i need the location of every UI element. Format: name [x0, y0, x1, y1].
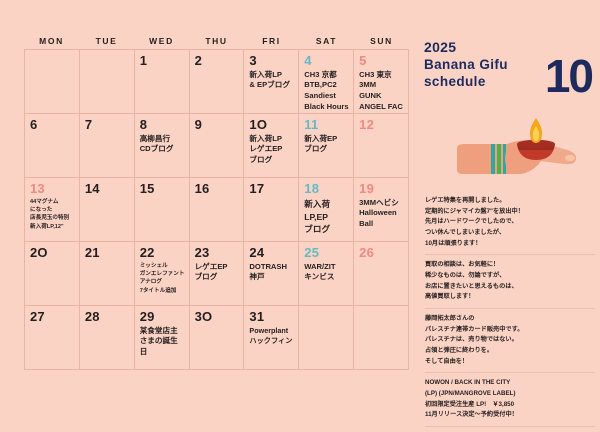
- schedule-header: 2025 Banana Gifuschedule 10: [424, 40, 592, 101]
- day-number: 16: [195, 182, 240, 196]
- day-cell-empty: [25, 50, 80, 114]
- note-line: お店に置きたいと思えるものは、: [425, 282, 595, 293]
- day-number: 22: [140, 246, 185, 260]
- day-number: 4: [304, 54, 349, 68]
- notes-panel: レゲエ特集を再開しました。定期的にジャマイカ盤7"を放出中！先月はハードワークで…: [425, 196, 595, 432]
- day-cell-3[interactable]: 3新入荷LP& EPブログ: [244, 50, 299, 114]
- day-number: 31: [249, 310, 294, 324]
- day-number: 5: [359, 54, 404, 68]
- day-number: 14: [85, 182, 130, 196]
- event-text: 新入荷LP,12": [30, 223, 75, 231]
- day-number: 15: [140, 182, 185, 196]
- event-text: Halloween: [359, 208, 404, 219]
- day-cell-empty: [354, 306, 409, 370]
- event-text: 神戸: [249, 272, 294, 283]
- day-cell-11[interactable]: 11新入荷EPブログ: [299, 114, 354, 178]
- note-line: 定期的にジャマイカ盤7"を放出中！: [425, 207, 595, 218]
- day-cell-1O[interactable]: 1O新入荷LPレゲエEPブログ: [244, 114, 299, 178]
- event-text: 3MMヘビシ: [359, 198, 404, 209]
- event-text: ブログ: [304, 144, 349, 155]
- event-text: & EPブログ: [249, 80, 294, 91]
- note-line: つい休んでしまいましたが、: [425, 228, 595, 239]
- day-cell-31[interactable]: 31Powerplantハックフィン: [244, 306, 299, 370]
- event-text: 新入荷LP: [249, 134, 294, 145]
- day-number: 9: [195, 118, 240, 132]
- day-cell-21[interactable]: 21: [80, 242, 135, 306]
- event-text: キンビス: [304, 272, 349, 283]
- day-number: 27: [30, 310, 75, 324]
- event-text: Sandiest: [304, 91, 349, 102]
- event-text: 新入荷: [304, 198, 349, 211]
- event-text: 某食堂店主: [140, 326, 185, 337]
- day-number: 28: [85, 310, 130, 324]
- day-cell-13[interactable]: 1344マグナムになった店長児玉の特別新入荷LP,12": [25, 178, 80, 242]
- day-cell-18[interactable]: 18新入荷LP,EPブログ: [299, 178, 354, 242]
- day-number: 1: [140, 54, 185, 68]
- day-number: 6: [30, 118, 75, 132]
- note-line: パレスチナは、売り物ではない。: [425, 335, 595, 346]
- note-line: パレスチナ連帯カード販売中です。: [425, 325, 595, 336]
- note-reggae: レゲエ特集を再開しました。定期的にジャマイカ盤7"を放出中！先月はハードワークで…: [425, 196, 595, 255]
- day-cell-29[interactable]: 29某食堂店主さまの誕生日: [135, 306, 190, 370]
- event-text: GUNK: [359, 91, 404, 102]
- note-purchase: 買取の相談は、お気軽に！稀少なものは、勿論ですが、お店に置きたいと思えるものは、…: [425, 260, 595, 309]
- calendar-page: MONTUEWEDTHUFRISATSUN 123新入荷LP& EPブログ4CH…: [0, 0, 600, 424]
- day-cell-26[interactable]: 26: [354, 242, 409, 306]
- event-text: CH3 京都: [304, 70, 349, 81]
- event-text: さまの誕生日: [140, 336, 185, 358]
- day-number: 18: [304, 182, 349, 196]
- event-text: 新入荷EP: [304, 134, 349, 145]
- event-text: 新入荷LP: [249, 70, 294, 81]
- note-palestine: 藤岡拓太郎さんのパレスチナ連帯カード販売中です。パレスチナは、売り物ではない。占…: [425, 314, 595, 373]
- brand-line-1: schedule: [424, 74, 536, 91]
- brand-title: Banana Gifuschedule: [424, 57, 536, 91]
- event-text: 3MM: [359, 80, 404, 91]
- day-number: 21: [85, 246, 130, 260]
- weekday-header-fri: FRI: [244, 36, 299, 46]
- event-text: レゲエEP: [195, 262, 240, 273]
- note-line: 買取の相談は、お気軽に！: [425, 260, 595, 271]
- weekday-header-thu: THU: [189, 36, 244, 46]
- brand-line-0: Banana Gifu: [424, 57, 536, 74]
- day-cell-19[interactable]: 193MMヘビシHalloweenBall: [354, 178, 409, 242]
- note-line: 初回限定受注生産 LP! ￥3,850: [425, 400, 595, 411]
- event-text: レゲエEP: [249, 144, 294, 155]
- day-number: 7: [85, 118, 130, 132]
- day-number: 25: [304, 246, 349, 260]
- day-cell-2O[interactable]: 2O: [25, 242, 80, 306]
- note-line: 先月はハードワークでしたので、: [425, 217, 595, 228]
- event-text: ガンエレファント: [140, 270, 185, 278]
- day-number: 11: [304, 118, 349, 132]
- weekday-header-tue: TUE: [79, 36, 134, 46]
- event-text: Ball: [359, 219, 404, 230]
- event-text: ブログ: [249, 155, 294, 166]
- event-text: CDブログ: [140, 144, 185, 155]
- day-number: 29: [140, 310, 185, 324]
- note-nowon: NOWON / BACK IN THE CITY(LP) (JPN/MANGRO…: [425, 378, 595, 427]
- day-cell-16[interactable]: 16: [190, 178, 245, 242]
- day-cell-22[interactable]: 22ミッシェルガンエレファントアナログ7タイトル追加: [135, 242, 190, 306]
- weekday-header-wed: WED: [134, 36, 189, 46]
- weekday-header-sat: SAT: [299, 36, 354, 46]
- note-line: (LP) (JPN/MANGROVE LABEL): [425, 389, 595, 400]
- day-number: 19: [359, 182, 404, 196]
- event-text: Powerplant: [249, 326, 294, 337]
- day-cell-3O[interactable]: 3O: [190, 306, 245, 370]
- weekday-header-row: MONTUEWEDTHUFRISATSUN: [24, 36, 409, 46]
- day-number: 3O: [195, 310, 240, 324]
- note-line: 藤岡拓太郎さんの: [425, 314, 595, 325]
- day-cell-15[interactable]: 15: [135, 178, 190, 242]
- event-text: ブログ: [195, 272, 240, 283]
- event-text: CH3 東京: [359, 70, 404, 81]
- day-cell-5[interactable]: 5CH3 東京3MMGUNKANGEL FACE: [354, 50, 409, 114]
- day-cell-17[interactable]: 17: [244, 178, 299, 242]
- note-line: 占領と弾圧に終わりを。: [425, 346, 595, 357]
- event-text: ハックフィン: [249, 336, 294, 347]
- day-cell-14[interactable]: 14: [80, 178, 135, 242]
- event-text: ANGEL FACE: [359, 102, 404, 114]
- day-cell-24[interactable]: 24DOTRASH神戸: [244, 242, 299, 306]
- day-number: 2O: [30, 246, 75, 260]
- day-number: 8: [140, 118, 185, 132]
- weekday-header-mon: MON: [24, 36, 79, 46]
- event-text: LP,EP: [304, 211, 349, 224]
- day-number: 3: [249, 54, 294, 68]
- note-line: 稀少なものは、勿論ですが、: [425, 271, 595, 282]
- note-line: NOWON / BACK IN THE CITY: [425, 378, 595, 389]
- calendar: MONTUEWEDTHUFRISATSUN 123新入荷LP& EPブログ4CH…: [24, 36, 409, 370]
- event-text: アナログ: [140, 278, 185, 286]
- day-number: 17: [249, 182, 294, 196]
- day-cell-4[interactable]: 4CH3 京都BTB,PC2SandiestBlack Hours: [299, 50, 354, 114]
- day-number: 12: [359, 118, 404, 132]
- day-number: 26: [359, 246, 404, 260]
- day-cell-6[interactable]: 6: [25, 114, 80, 178]
- day-number: 2: [195, 54, 240, 68]
- calendar-grid: 123新入荷LP& EPブログ4CH3 京都BTB,PC2SandiestBla…: [24, 49, 409, 370]
- day-cell-25[interactable]: 25WAR/ZITキンビス: [299, 242, 354, 306]
- event-text: ミッシェル: [140, 262, 185, 270]
- hand-holding-diya-lamp-icon: [455, 104, 585, 194]
- event-text: 高柳昌行: [140, 134, 185, 145]
- weekday-header-sun: SUN: [354, 36, 409, 46]
- day-number: 24: [249, 246, 294, 260]
- day-cell-empty: [299, 306, 354, 370]
- day-cell-2[interactable]: 2: [190, 50, 245, 114]
- note-line: そして自由を！: [425, 357, 595, 368]
- note-line: 10月は頑張ります！: [425, 239, 595, 250]
- event-text: Black Hours: [304, 102, 349, 113]
- event-text: 44マグナム: [30, 198, 75, 206]
- day-cell-7[interactable]: 7: [80, 114, 135, 178]
- event-text: BTB,PC2: [304, 80, 349, 91]
- title-wrap: Banana Gifuschedule 10: [424, 57, 592, 101]
- event-text: 7タイトル追加: [140, 287, 185, 295]
- month-number: 10: [545, 53, 592, 99]
- day-cell-1[interactable]: 1: [135, 50, 190, 114]
- event-text: WAR/ZIT: [304, 262, 349, 273]
- day-cell-empty: [80, 50, 135, 114]
- day-number: 1O: [249, 118, 294, 132]
- day-cell-9[interactable]: 9: [190, 114, 245, 178]
- event-text: DOTRASH: [249, 262, 294, 273]
- day-number: 13: [30, 182, 75, 196]
- day-cell-12[interactable]: 12: [354, 114, 409, 178]
- day-cell-28[interactable]: 28: [80, 306, 135, 370]
- day-cell-27[interactable]: 27: [25, 306, 80, 370]
- event-text: ブログ: [304, 223, 349, 236]
- day-cell-23[interactable]: 23レゲエEPブログ: [190, 242, 245, 306]
- event-text: になった: [30, 206, 75, 214]
- note-line: 高値買取します！: [425, 292, 595, 303]
- day-cell-8[interactable]: 8高柳昌行CDブログ: [135, 114, 190, 178]
- note-line: レゲエ特集を再開しました。: [425, 196, 595, 207]
- note-line: 11月リリース決定〜予約受付中！: [425, 410, 595, 421]
- event-text: 店長児玉の特別: [30, 214, 75, 222]
- day-number: 23: [195, 246, 240, 260]
